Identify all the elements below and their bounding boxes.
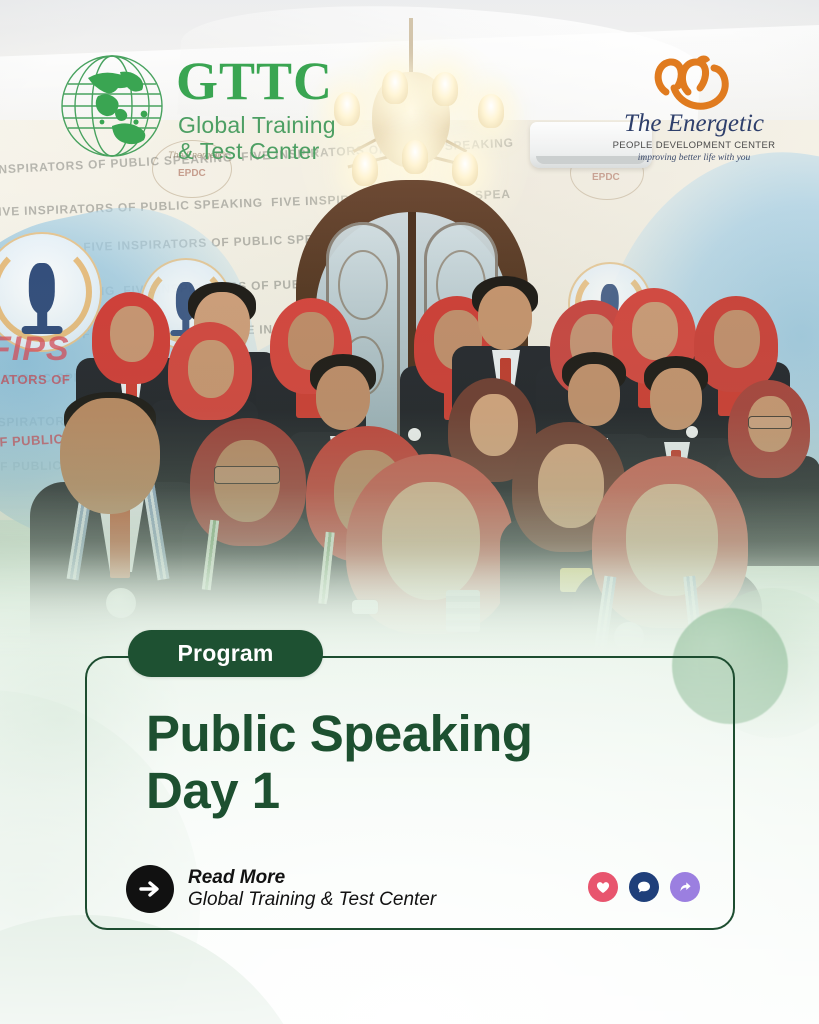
like-heart-icon[interactable] xyxy=(588,872,618,902)
read-more-cta[interactable]: Read More Global Training & Test Center xyxy=(126,861,546,917)
read-more-text: Read More Global Training & Test Center xyxy=(188,867,436,912)
organization-name: Global Training & Test Center xyxy=(188,889,436,911)
poster-canvas: FIVE INSPIRATORS OF PUBLIC SPEAKING FIVE… xyxy=(0,0,819,1024)
arrow-right-circle-icon[interactable] xyxy=(126,865,174,913)
title-line-1: Public Speaking xyxy=(146,705,532,762)
share-arrow-icon[interactable] xyxy=(670,872,700,902)
social-actions xyxy=(588,872,700,902)
program-badge: Program xyxy=(128,630,323,677)
title-line-2: Day 1 xyxy=(146,762,706,819)
read-more-label: Read More xyxy=(188,867,436,889)
page-title: Public Speaking Day 1 xyxy=(146,705,706,819)
comment-bubble-icon[interactable] xyxy=(629,872,659,902)
program-badge-label: Program xyxy=(178,640,274,667)
